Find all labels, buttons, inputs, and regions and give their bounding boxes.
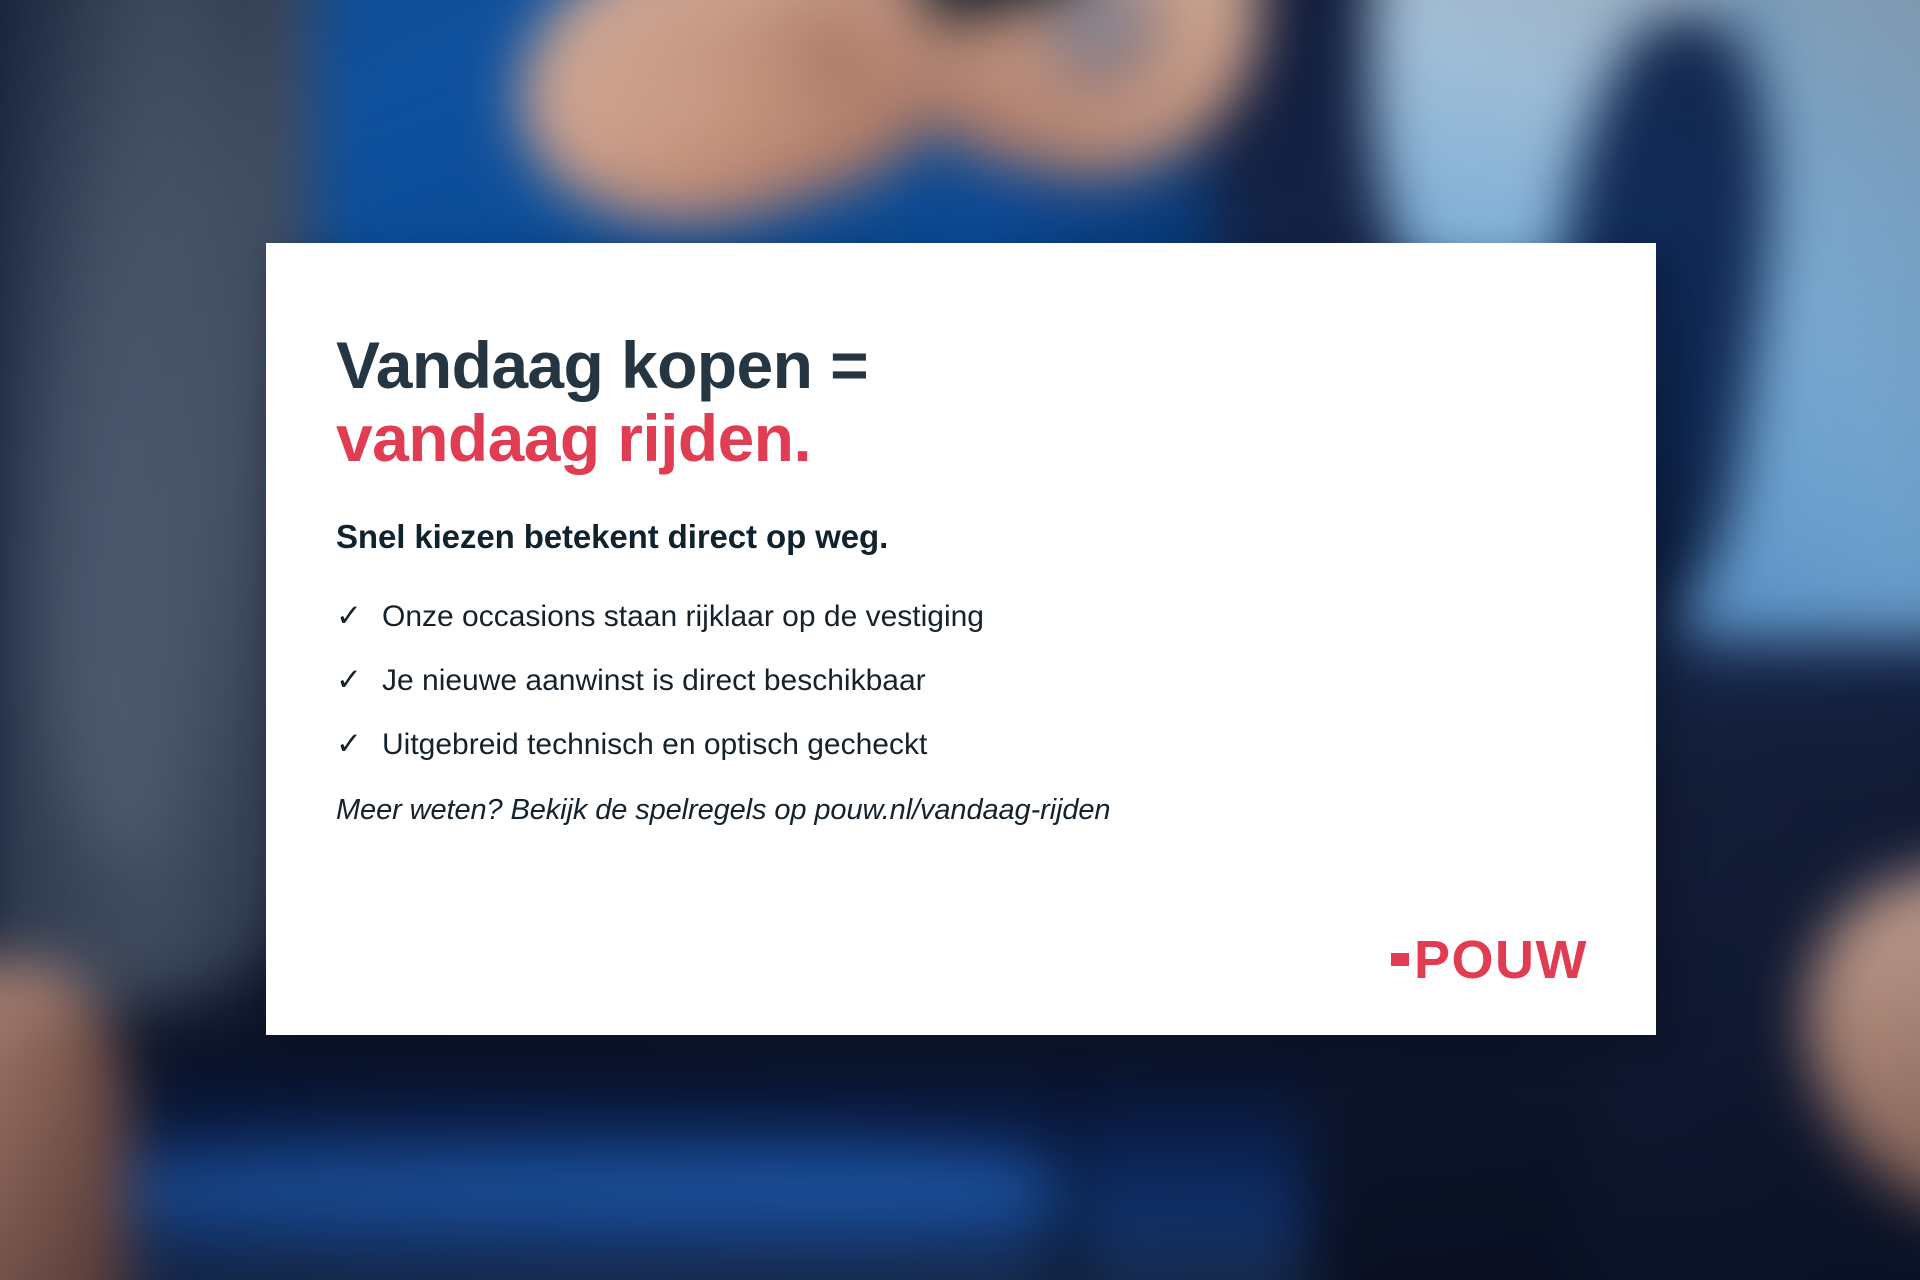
content-card: Vandaag kopen = vandaag rijden. Snel kie… <box>266 243 1656 1035</box>
benefit-list: ✓ Onze occasions staan rijklaar op de ve… <box>336 600 1586 760</box>
check-icon: ✓ <box>336 664 382 695</box>
pouw-logo: POUW <box>1391 933 1588 987</box>
list-item: ✓ Je nieuwe aanwinst is direct beschikba… <box>336 664 1586 696</box>
list-item: ✓ Onze occasions staan rijklaar op de ve… <box>336 600 1586 632</box>
headline-line-2: vandaag rijden. <box>336 402 1586 475</box>
list-item-label: Je nieuwe aanwinst is direct beschikbaar <box>382 666 1586 696</box>
headline: Vandaag kopen = vandaag rijden. <box>336 329 1586 474</box>
check-icon: ✓ <box>336 728 382 759</box>
logo-dash-icon <box>1391 953 1409 966</box>
list-item: ✓ Uitgebreid technisch en optisch gechec… <box>336 728 1586 760</box>
subheadline: Snel kiezen betekent direct op weg. <box>336 518 1586 556</box>
check-icon: ✓ <box>336 600 382 631</box>
footnote-text: Meer weten? Bekijk de spelregels op pouw… <box>336 794 1586 827</box>
headline-line-1: Vandaag kopen = <box>336 328 868 402</box>
list-item-label: Onze occasions staan rijklaar op de vest… <box>382 602 1586 632</box>
ad-banner: Vandaag kopen = vandaag rijden. Snel kie… <box>0 0 1920 1280</box>
list-item-label: Uitgebreid technisch en optisch gecheckt <box>382 730 1586 760</box>
logo-wordmark: POUW <box>1414 933 1588 987</box>
